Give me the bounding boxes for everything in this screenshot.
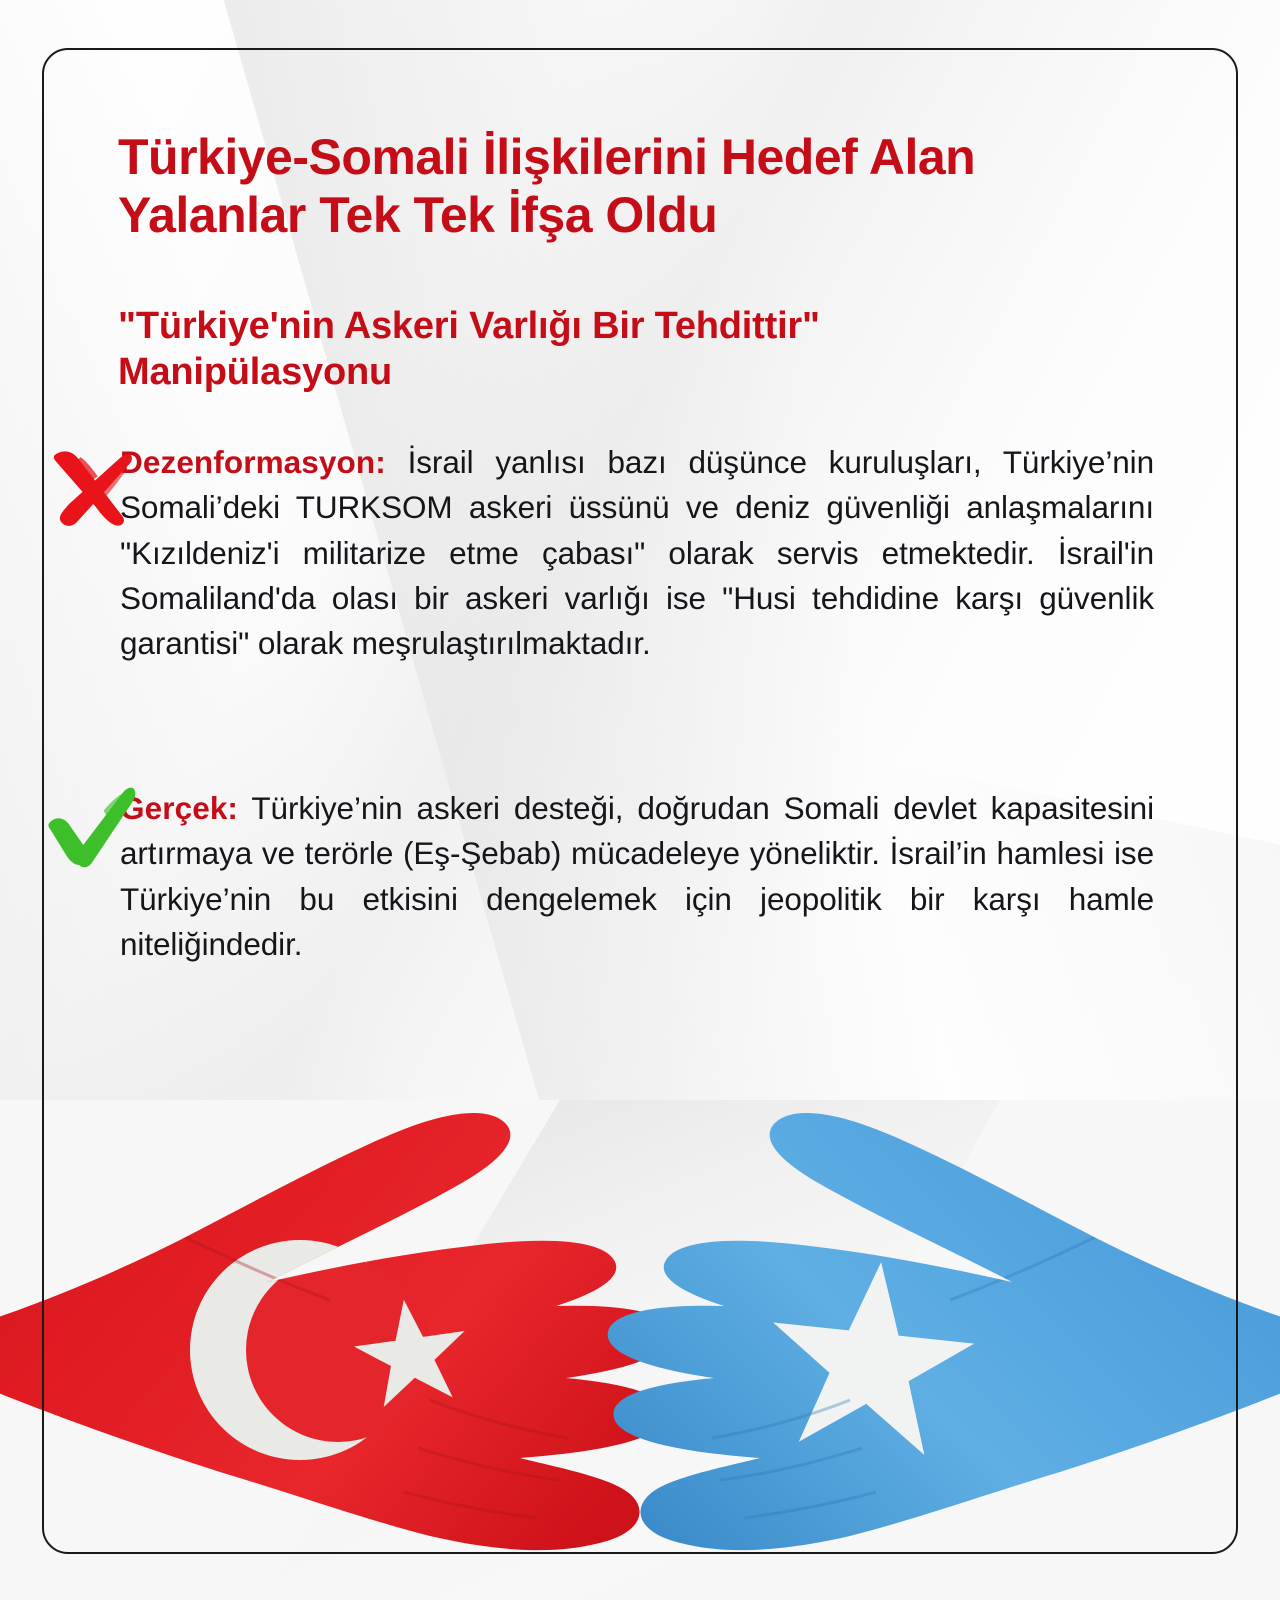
green-check-icon bbox=[44, 782, 140, 878]
disinformation-block: Dezenformasyon: İsrail yanlısı bazı düşü… bbox=[44, 440, 1154, 667]
infographic-poster: Türkiye-Somali İlişkilerini Hedef Alan Y… bbox=[0, 0, 1280, 1600]
disinformation-paragraph: Dezenformasyon: İsrail yanlısı bazı düşü… bbox=[44, 440, 1154, 667]
page-title: Türkiye-Somali İlişkilerini Hedef Alan Y… bbox=[118, 128, 1118, 244]
disinformation-label: Dezenformasyon: bbox=[120, 444, 386, 480]
handshake-flags-illustration bbox=[0, 1100, 1280, 1600]
red-x-icon bbox=[44, 436, 140, 532]
truth-block: Gerçek: Türkiye’nin askeri desteği, doğr… bbox=[44, 786, 1154, 967]
truth-body: Türkiye’nin askeri desteği, doğrudan Som… bbox=[120, 790, 1154, 962]
truth-paragraph: Gerçek: Türkiye’nin askeri desteği, doğr… bbox=[44, 786, 1154, 967]
page-subtitle: "Türkiye'nin Askeri Varlığı Bir Tehditti… bbox=[118, 303, 1078, 396]
